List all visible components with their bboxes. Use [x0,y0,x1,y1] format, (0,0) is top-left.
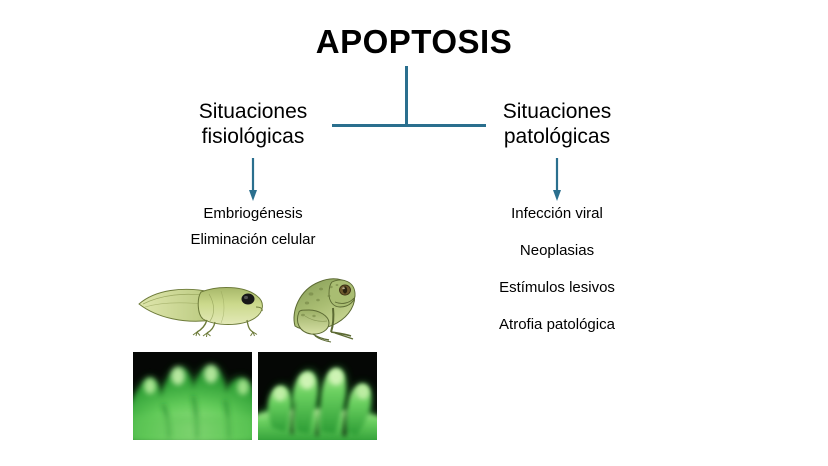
connector-vertical-line [405,66,408,126]
down-arrow-icon-right [548,158,566,202]
list-item: Neoplasias [457,242,657,260]
branch-right-heading-line1: Situaciones [457,99,657,124]
list-item: Embriogénesis [153,205,353,223]
amphibian-illustrations [130,268,380,344]
frog-illustration [285,268,361,349]
micrograph-digits [258,352,377,440]
tadpole-illustration [135,276,275,343]
page-title: APOPTOSIS [0,22,828,62]
branch-right-heading-line2: patológicas [457,124,657,149]
list-item: Atrofia patológica [457,316,657,334]
branch-right-heading: Situaciones patológicas [457,99,657,149]
branch-left-item-list: Embriogénesis Eliminación celular [153,205,353,257]
apoptosis-slide: APOPTOSIS Situaciones fisiológicas Situa… [0,0,828,466]
micrograph-webbed [133,352,252,440]
down-arrow-icon-left [244,158,262,202]
list-item: Eliminación celular [153,231,353,249]
branch-left-heading-line1: Situaciones [153,99,353,124]
branch-left-heading-line2: fisiológicas [153,124,353,149]
branch-left-heading: Situaciones fisiológicas [153,99,353,149]
list-item: Estímulos lesivos [457,279,657,297]
branch-right-item-list: Infección viral Neoplasias Estímulos les… [457,205,657,353]
list-item: Infección viral [457,205,657,223]
